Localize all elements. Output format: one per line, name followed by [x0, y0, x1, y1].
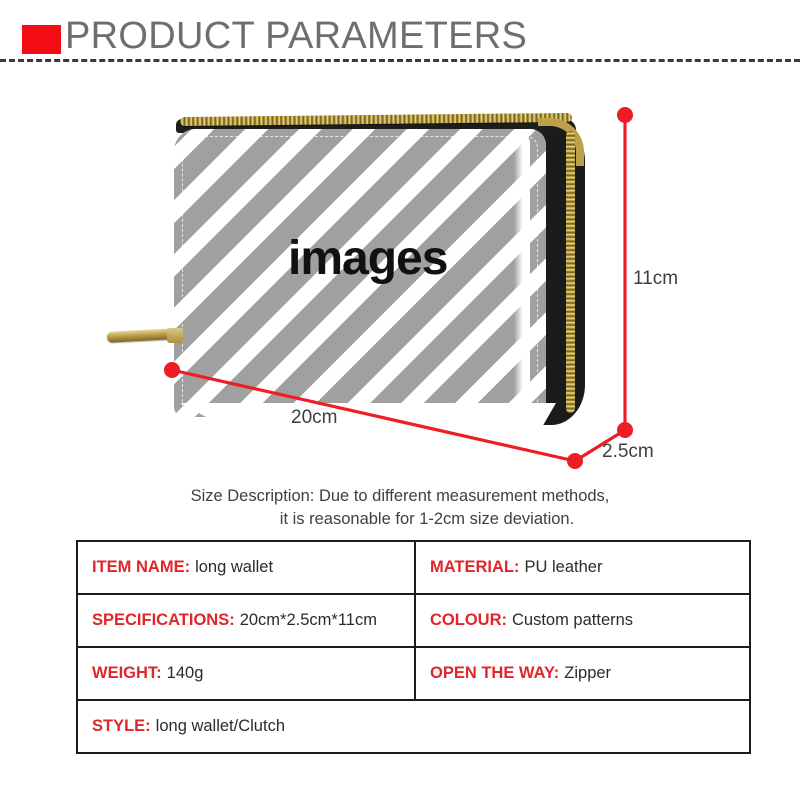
- spec-cell-specifications: SPECIFICATIONS:20cm*2.5cm*11cm: [77, 594, 415, 647]
- spec-value: 20cm*2.5cm*11cm: [240, 611, 377, 629]
- red-accent-square: [22, 25, 61, 54]
- wallet-bottom-base: [180, 403, 556, 429]
- page-title: PRODUCT PARAMETERS: [65, 13, 527, 59]
- wallet-edge-highlight: [514, 133, 530, 411]
- table-row: WEIGHT:140g OPEN THE WAY:Zipper: [77, 647, 750, 700]
- image-watermark-text: images: [288, 231, 447, 286]
- spec-value: PU leather: [525, 558, 603, 576]
- table-row: STYLE:long wallet/Clutch: [77, 700, 750, 753]
- spec-value: Custom patterns: [512, 611, 633, 629]
- zipper-right-run-icon: [566, 131, 575, 413]
- specification-table: ITEM NAME:long wallet MATERIAL:PU leathe…: [76, 540, 751, 754]
- spec-key: STYLE:: [92, 717, 151, 735]
- spec-cell-style: STYLE:long wallet/Clutch: [77, 700, 750, 753]
- spec-key: OPEN THE WAY:: [430, 664, 559, 682]
- spec-key: COLOUR:: [430, 611, 507, 629]
- spec-cell-item-name: ITEM NAME:long wallet: [77, 541, 415, 594]
- measurement-label-depth: 2.5cm: [602, 441, 654, 463]
- spec-cell-open-the-way: OPEN THE WAY:Zipper: [415, 647, 750, 700]
- spec-cell-colour: COLOUR:Custom patterns: [415, 594, 750, 647]
- table-row: ITEM NAME:long wallet MATERIAL:PU leathe…: [77, 541, 750, 594]
- spec-key: ITEM NAME:: [92, 558, 190, 576]
- spec-key: WEIGHT:: [92, 664, 162, 682]
- spec-key: SPECIFICATIONS:: [92, 611, 235, 629]
- spec-value: long wallet: [195, 558, 273, 576]
- size-note-line-1: Size Description: Due to different measu…: [0, 485, 800, 508]
- wallet-product-image: images: [170, 117, 585, 427]
- spec-value: 140g: [167, 664, 204, 682]
- size-description-note: Size Description: Due to different measu…: [0, 485, 800, 531]
- spec-value: Zipper: [564, 664, 611, 682]
- table-row: SPECIFICATIONS:20cm*2.5cm*11cm COLOUR:Cu…: [77, 594, 750, 647]
- spec-value: long wallet/Clutch: [156, 717, 285, 735]
- page-header: PRODUCT PARAMETERS: [0, 0, 800, 62]
- spec-cell-weight: WEIGHT:140g: [77, 647, 415, 700]
- spec-key: MATERIAL:: [430, 558, 520, 576]
- zipper-slider-icon: [167, 328, 183, 343]
- measurement-label-height: 11cm: [633, 268, 678, 290]
- zipper-corner-icon: [538, 118, 584, 166]
- spec-cell-material: MATERIAL:PU leather: [415, 541, 750, 594]
- measurement-label-width: 20cm: [291, 407, 337, 429]
- product-image-stage: images 11cm 20cm 2.5cm: [0, 62, 800, 482]
- size-note-line-2: it is reasonable for 1-2cm size deviatio…: [0, 508, 800, 531]
